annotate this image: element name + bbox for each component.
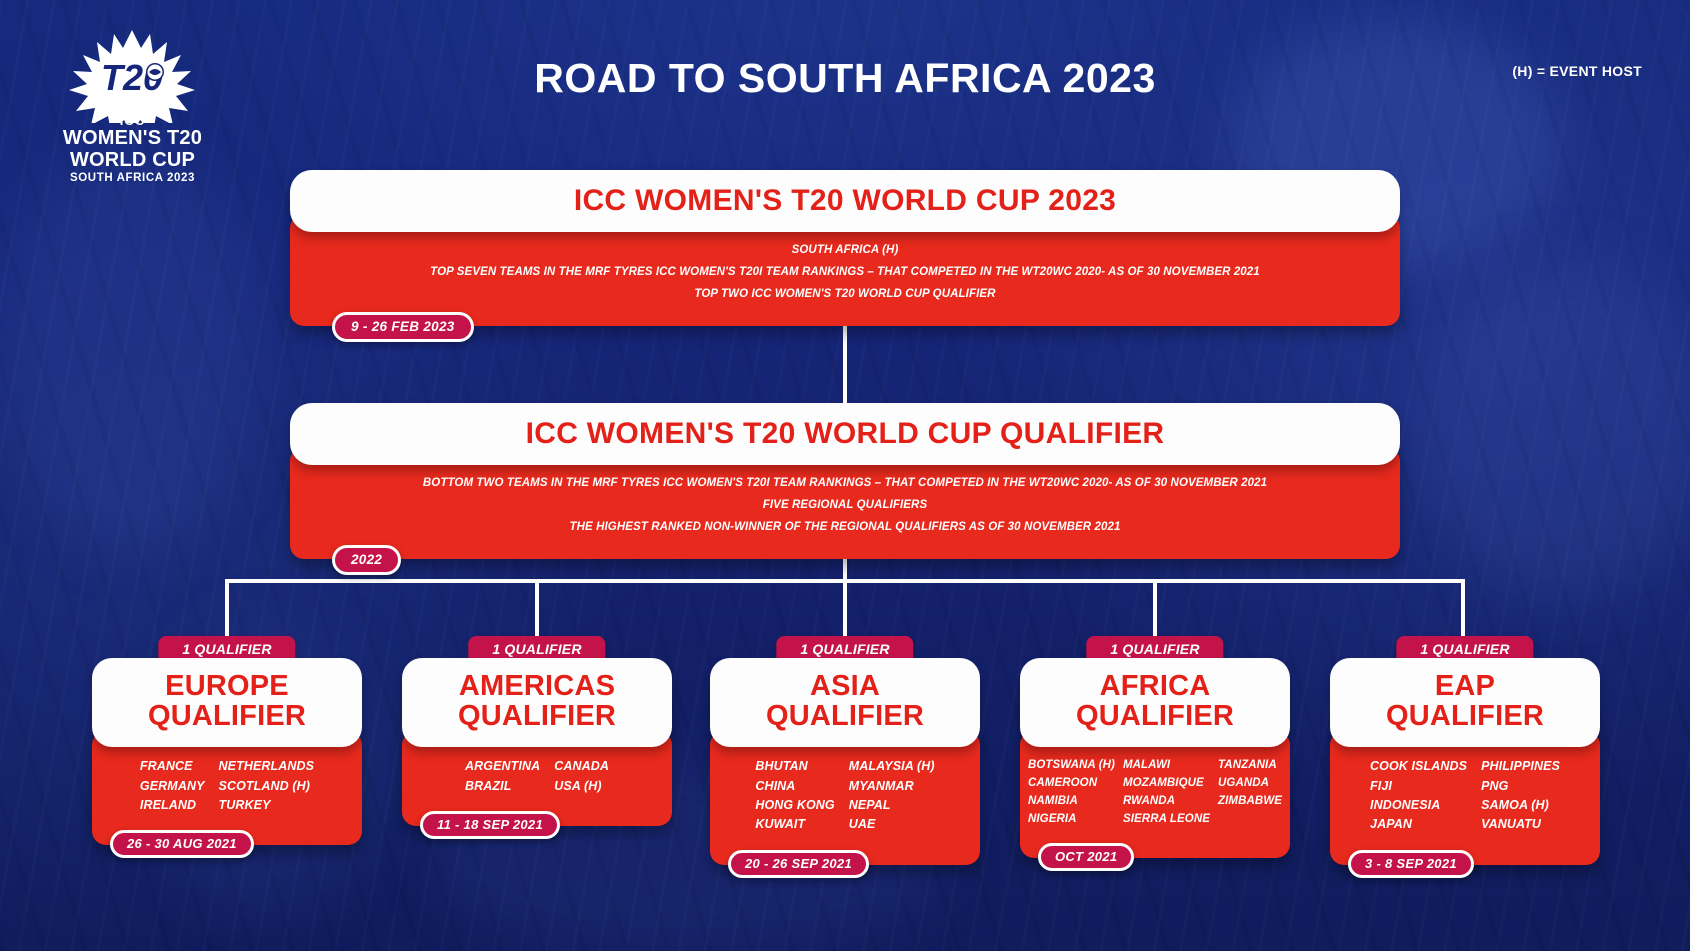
- bg-photo-glow: [0, 150, 260, 550]
- qualifier-panel: ICC WOMEN'S T20 WORLD CUP QUALIFIER BOTT…: [290, 403, 1400, 559]
- card-title: ASIA QUALIFIER: [710, 658, 980, 747]
- team-column: ARGENTINABRAZIL: [465, 757, 540, 796]
- team-column: CANADAUSA (H): [554, 757, 609, 796]
- card-title-line2: QUALIFIER: [102, 702, 352, 732]
- date-badge: 3 - 8 SEP 2021: [1348, 850, 1474, 878]
- card-title: EAP QUALIFIER: [1330, 658, 1600, 747]
- card-title-line2: QUALIFIER: [412, 702, 662, 732]
- panel-line: THE HIGHEST RANKED NON-WINNER OF THE REG…: [330, 517, 1360, 539]
- date-badge: 2022: [332, 545, 401, 575]
- team-column: NETHERLANDSSCOTLAND (H)TURKEY: [219, 757, 315, 815]
- world-cup-panel: ICC WOMEN'S T20 WORLD CUP 2023 SOUTH AFR…: [290, 170, 1400, 326]
- logo-line-worldcup: WORLD CUP: [45, 150, 220, 170]
- host-legend: (H) = EVENT HOST: [1512, 63, 1642, 79]
- logo-line-host: SOUTH AFRICA 2023: [45, 173, 220, 185]
- card-title-line2: QUALIFIER: [1340, 702, 1590, 732]
- panel-line: TOP TWO ICC WOMEN'S T20 WORLD CUP QUALIF…: [330, 284, 1360, 306]
- team-column: BHUTANCHINAHONG KONGKUWAIT: [755, 757, 834, 835]
- panel-line: SOUTH AFRICA (H): [330, 240, 1360, 262]
- card-title-line1: AMERICAS: [412, 672, 662, 702]
- card-title: EUROPE QUALIFIER: [92, 658, 362, 747]
- bg-photo-glow: [1420, 260, 1690, 600]
- card-title-line1: AFRICA: [1030, 672, 1280, 702]
- date-badge: OCT 2021: [1038, 843, 1134, 871]
- connector-drop-africa: [1153, 579, 1157, 639]
- team-column: TANZANIAUGANDAZIMBABWE: [1218, 757, 1282, 828]
- team-column: PHILIPPINESPNGSAMOA (H)VANUATU: [1481, 757, 1560, 835]
- card-body: BOTSWANA (H)CAMEROONNAMIBIANIGERIA MALAW…: [1020, 731, 1290, 858]
- team-list: BHUTANCHINAHONG KONGKUWAIT MALAYSIA (H)M…: [726, 757, 964, 835]
- card-title: AMERICAS QUALIFIER: [402, 658, 672, 747]
- connector-drop-eap: [1461, 579, 1465, 639]
- panel-line: TOP SEVEN TEAMS IN THE MRF TYRES ICC WOM…: [330, 262, 1360, 284]
- page-title: ROAD TO SOUTH AFRICA 2023: [0, 55, 1690, 102]
- panel-title-text: ICC WOMEN'S T20 WORLD CUP QUALIFIER: [526, 417, 1165, 451]
- date-badge: 9 - 26 FEB 2023: [332, 312, 474, 342]
- qualifier-card-asia[interactable]: 1 QUALIFIER ASIA QUALIFIER BHUTANCHINAHO…: [710, 636, 980, 865]
- connector-drop-americas: [535, 579, 539, 639]
- qualifier-panel-title: ICC WOMEN'S T20 WORLD CUP QUALIFIER: [290, 403, 1400, 465]
- logo-line-icc: ICC: [45, 114, 220, 127]
- team-list: BOTSWANA (H)CAMEROONNAMIBIANIGERIA MALAW…: [1030, 757, 1280, 828]
- event-logo: T20 ICC WOMEN'S T20 WORLD CUP SOUTH AFRI…: [45, 28, 220, 178]
- date-badge: 26 - 30 AUG 2021: [110, 830, 254, 858]
- qualifier-card-africa[interactable]: 1 QUALIFIER AFRICA QUALIFIER BOTSWANA (H…: [1020, 636, 1290, 858]
- team-column: FRANCEGERMANYIRELAND: [140, 757, 205, 815]
- connector-drop-europe: [225, 579, 229, 639]
- card-body: BHUTANCHINAHONG KONGKUWAIT MALAYSIA (H)M…: [710, 731, 980, 865]
- date-badge: 20 - 26 SEP 2021: [728, 850, 869, 878]
- panel-line: FIVE REGIONAL QUALIFIERS: [330, 495, 1360, 517]
- qualifier-card-europe[interactable]: 1 QUALIFIER EUROPE QUALIFIER FRANCEGERMA…: [92, 636, 362, 845]
- connector-drop-asia: [843, 579, 847, 639]
- card-title: AFRICA QUALIFIER: [1020, 658, 1290, 747]
- date-badge: 11 - 18 SEP 2021: [420, 811, 560, 839]
- card-body: COOK ISLANDSFIJIINDONESIAJAPAN PHILIPPIN…: [1330, 731, 1600, 865]
- team-list: FRANCEGERMANYIRELAND NETHERLANDSSCOTLAND…: [108, 757, 346, 815]
- card-title-line2: QUALIFIER: [720, 702, 970, 732]
- card-title-line1: EAP: [1340, 672, 1590, 702]
- card-title-line1: ASIA: [720, 672, 970, 702]
- team-list: COOK ISLANDSFIJIINDONESIAJAPAN PHILIPPIN…: [1346, 757, 1584, 835]
- qualifier-card-americas[interactable]: 1 QUALIFIER AMERICAS QUALIFIER ARGENTINA…: [402, 636, 672, 826]
- logo-line-womens: WOMEN'S T20: [45, 128, 220, 148]
- qualifier-card-eap[interactable]: 1 QUALIFIER EAP QUALIFIER COOK ISLANDSFI…: [1330, 636, 1600, 865]
- card-title-line1: EUROPE: [102, 672, 352, 702]
- panel-title-text: ICC WOMEN'S T20 WORLD CUP 2023: [574, 184, 1116, 218]
- panel-line: BOTTOM TWO TEAMS IN THE MRF TYRES ICC WO…: [330, 473, 1360, 495]
- card-body: FRANCEGERMANYIRELAND NETHERLANDSSCOTLAND…: [92, 731, 362, 845]
- team-column: MALAWIMOZAMBIQUERWANDASIERRA LEONE: [1123, 757, 1210, 828]
- team-list: ARGENTINABRAZIL CANADAUSA (H): [418, 757, 656, 796]
- world-cup-panel-title: ICC WOMEN'S T20 WORLD CUP 2023: [290, 170, 1400, 232]
- team-column: BOTSWANA (H)CAMEROONNAMIBIANIGERIA: [1028, 757, 1115, 828]
- team-column: COOK ISLANDSFIJIINDONESIAJAPAN: [1370, 757, 1467, 835]
- card-title-line2: QUALIFIER: [1030, 702, 1280, 732]
- team-column: MALAYSIA (H)MYANMARNEPALUAE: [849, 757, 935, 835]
